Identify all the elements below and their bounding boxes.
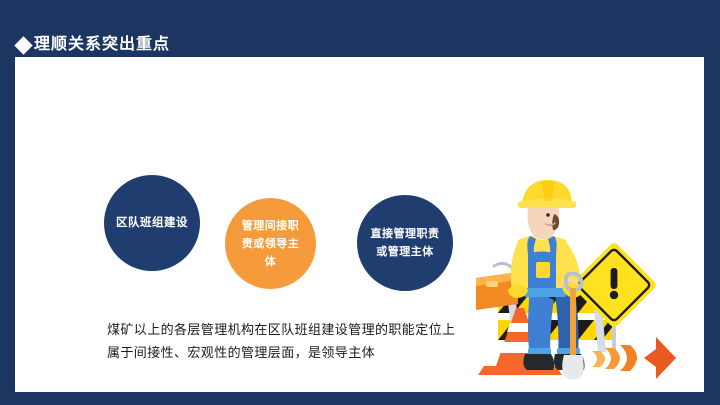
diagram-node-3-label: 直接管理职责或管理主体 bbox=[357, 225, 453, 261]
diagram-node-1-label: 区队班组建设 bbox=[104, 214, 200, 233]
diagram-node-3[interactable]: 直接管理职责或管理主体 bbox=[357, 195, 453, 291]
slide-root: 理顺关系突出重点 区队班组建设 管理间接职责或领导主体 直接管理职责或管理主体 … bbox=[0, 0, 720, 405]
hard-hat-icon bbox=[518, 180, 576, 208]
slide-title-bar: 理顺关系突出重点 bbox=[17, 33, 170, 57]
page-title: 理顺关系突出重点 bbox=[34, 36, 170, 54]
body-paragraph: 煤矿以上的各层管理机构在区队班组建设管理的职能定位上属于间接性、宏观性的管理层面… bbox=[107, 318, 467, 364]
content-panel: 区队班组建设 管理间接职责或领导主体 直接管理职责或管理主体 煤矿以上的各层管理… bbox=[15, 57, 704, 392]
diagram-node-2[interactable]: 管理间接职责或领导主体 bbox=[225, 198, 316, 289]
construction-worker-illustration bbox=[470, 162, 685, 387]
diamond-icon bbox=[14, 36, 32, 54]
diagram-node-1[interactable]: 区队班组建设 bbox=[104, 175, 200, 271]
diagram-node-2-label: 管理间接职责或领导主体 bbox=[225, 217, 316, 271]
